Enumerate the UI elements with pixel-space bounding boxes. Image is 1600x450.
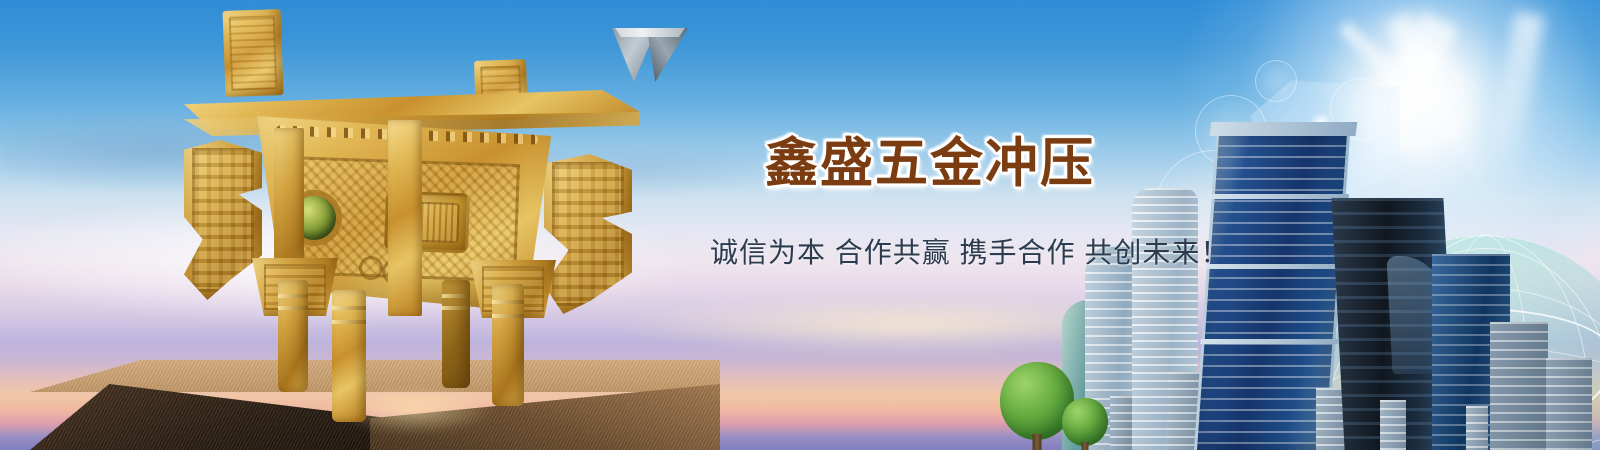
handle-engraving [229,15,278,91]
building-right-block [1546,358,1592,450]
ding-flange-left [184,140,262,300]
golden-bronze-ding [170,8,640,428]
leg-ring [332,306,366,310]
tree-crown [1062,398,1108,446]
tree-trunk [1033,434,1042,450]
ding-leg [442,280,470,388]
building-right-block [1490,322,1548,450]
flange-fretwork [552,162,624,306]
facade-band [1211,194,1349,199]
banner-headline: 鑫盛五金冲压 [765,136,1095,192]
tree-trunk [1082,442,1089,450]
promo-banner: 鑫盛五金冲压 诚信为本 合作共赢 携手合作 共创未来！ [0,0,1600,450]
leg-ring [492,314,524,318]
leg-ring [278,294,308,298]
ding-leg [278,280,308,392]
ding-spiral-motif [359,256,383,280]
ding-leg [332,290,366,422]
leg-ring [442,294,470,298]
leg-ring [278,306,308,310]
building-small [1110,396,1132,450]
building-small [1380,400,1406,450]
ding-leg [492,284,524,406]
ding-flange-right [544,154,632,314]
facade-band [1200,339,1338,344]
ding-handle-left [223,9,284,97]
tree-small [1062,398,1108,446]
leg-ring [442,306,470,310]
ding-vertical-edge [388,120,422,316]
leg-ring [332,320,366,324]
leg-ring [492,300,524,304]
flange-fretwork [192,148,254,292]
building-small [1466,406,1488,450]
banner-tagline: 诚信为本 合作共赢 携手合作 共创未来！ [710,236,1229,270]
